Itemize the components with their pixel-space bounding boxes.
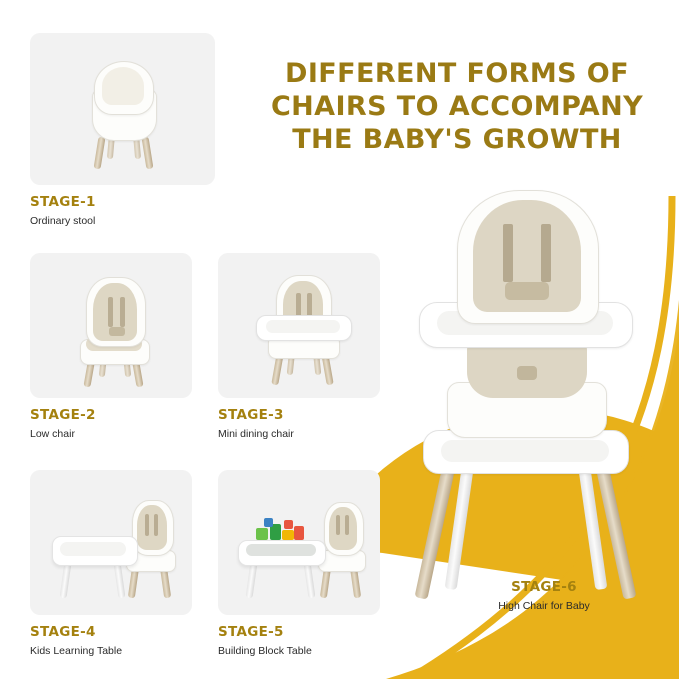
stage-2-desc: Low chair <box>30 428 192 440</box>
stage-6-caption: STAGE-6 High Chair for Baby <box>444 570 644 612</box>
stage-3-image <box>218 253 380 398</box>
stage-card-3: STAGE-3 Mini dining chair <box>218 253 380 440</box>
toy-block-blue <box>264 518 273 527</box>
headline-line-1: DIFFERENT FORMS OF <box>252 58 662 91</box>
stage-5-image <box>218 470 380 615</box>
stage-5-label: STAGE-5 <box>218 624 380 640</box>
stage-card-5: STAGE-5 Building Block Table <box>218 470 380 657</box>
stage-2-image <box>30 253 192 398</box>
headline-line-2: CHAIRS TO ACCOMPANY <box>252 91 662 124</box>
stage-1-image <box>30 33 215 185</box>
toy-block-green <box>256 528 268 540</box>
stage-1-label: STAGE-1 <box>30 194 215 210</box>
product-infographic: DIFFERENT FORMS OF CHAIRS TO ACCOMPANY T… <box>0 0 679 679</box>
stage-1-desc: Ordinary stool <box>30 215 215 227</box>
stage-card-1: STAGE-1 Ordinary stool <box>30 33 215 227</box>
toy-block-red-2 <box>284 520 293 529</box>
page-title: DIFFERENT FORMS OF CHAIRS TO ACCOMPANY T… <box>252 58 662 157</box>
stage-4-desc: Kids Learning Table <box>30 645 192 657</box>
toy-block-yellow <box>282 530 294 540</box>
stage-6-label: STAGE-6 <box>444 579 644 595</box>
stage-3-desc: Mini dining chair <box>218 428 380 440</box>
headline-line-3: THE BABY'S GROWTH <box>252 124 662 157</box>
stage-2-label: STAGE-2 <box>30 407 192 423</box>
toy-block-red <box>294 526 304 540</box>
stage-4-image <box>30 470 192 615</box>
stage-6-desc: High Chair for Baby <box>444 600 644 612</box>
stage-5-desc: Building Block Table <box>218 645 380 657</box>
stage-card-2: STAGE-2 Low chair <box>30 253 192 440</box>
stage-3-label: STAGE-3 <box>218 407 380 423</box>
stage-card-4: STAGE-4 Kids Learning Table <box>30 470 192 657</box>
stage-4-label: STAGE-4 <box>30 624 192 640</box>
